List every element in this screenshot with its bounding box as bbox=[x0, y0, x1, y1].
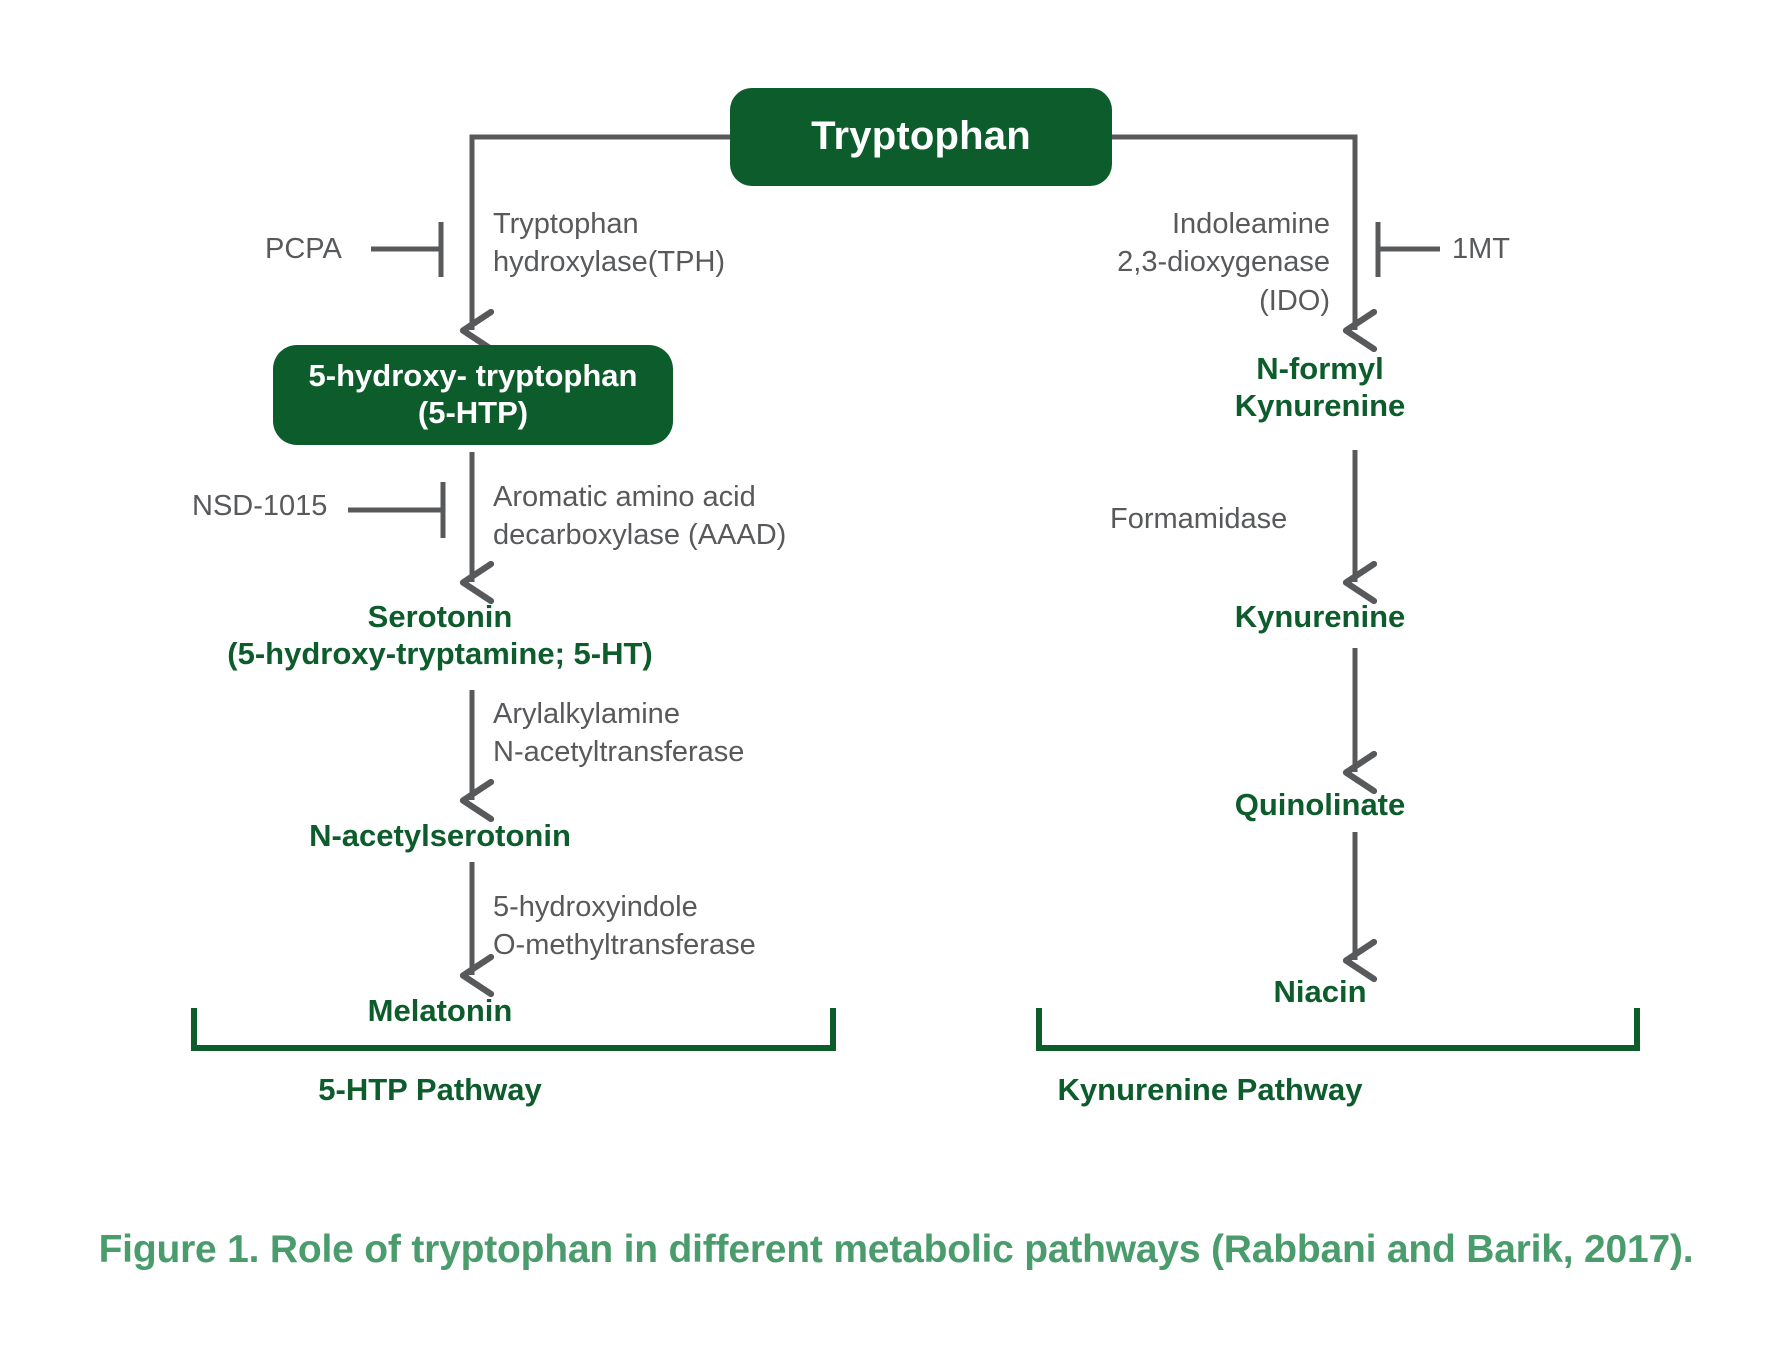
enzyme-label-indoleamine-2-3-dioxygenase: Indoleamine 2,3-dioxygenase (IDO) bbox=[1010, 205, 1330, 320]
enzyme-label-formamidase: Formamidase bbox=[1110, 500, 1350, 538]
node-kynurenine: Kynurenine bbox=[1190, 598, 1450, 635]
node-serotonin: Serotonin (5-hydroxy-tryptamine; 5-HT) bbox=[180, 598, 700, 672]
connector-layer bbox=[0, 0, 1792, 1348]
node-quinolinate: Quinolinate bbox=[1180, 786, 1460, 823]
node-n-acetylserotonin: N-acetylserotonin bbox=[230, 817, 650, 854]
enzyme-label-arylalkylamine-n-acetyltransferase: Arylalkylamine N-acetyltransferase bbox=[493, 695, 823, 772]
enzyme-label-tryptophan-hydroxylase: Tryptophan hydroxylase(TPH) bbox=[493, 205, 823, 282]
inhibition-nsd-1015 bbox=[348, 482, 443, 538]
enzyme-label-aromatic-amino-acid-decarboxylase: Aromatic amino acid decarboxylase (AAAD) bbox=[493, 478, 853, 555]
inhibition-1mt bbox=[1378, 222, 1440, 277]
node-niacin: Niacin bbox=[1230, 973, 1410, 1010]
node-5-hydroxytryptophan[interactable]: 5-hydroxy- tryptophan (5-HTP) bbox=[273, 345, 673, 445]
node-melatonin: Melatonin bbox=[280, 992, 600, 1029]
inhibitor-label-1mt: 1MT bbox=[1452, 231, 1510, 269]
inhibitor-label-nsd-1015: NSD-1015 bbox=[192, 488, 327, 526]
inhibition-pcpa bbox=[371, 222, 441, 277]
figure-root: Tryptophan 5-hydroxy- tryptophan (5-HTP)… bbox=[0, 0, 1792, 1348]
node-n-formyl-kynurenine: N-formyl Kynurenine bbox=[1170, 350, 1470, 424]
figure-caption: Figure 1. Role of tryptophan in differen… bbox=[0, 1228, 1792, 1272]
inhibitor-label-pcpa: PCPA bbox=[265, 231, 342, 269]
pathway-label-5htp: 5-HTP Pathway bbox=[220, 1072, 640, 1108]
enzyme-label-5-hydroxyindole-o-methyltransferase: 5-hydroxyindole O-methyltransferase bbox=[493, 888, 833, 965]
pathway-label-kynurenine: Kynurenine Pathway bbox=[1000, 1072, 1420, 1108]
node-tryptophan[interactable]: Tryptophan bbox=[730, 88, 1112, 186]
bracket-kynurenine-pathway bbox=[1039, 1008, 1637, 1048]
